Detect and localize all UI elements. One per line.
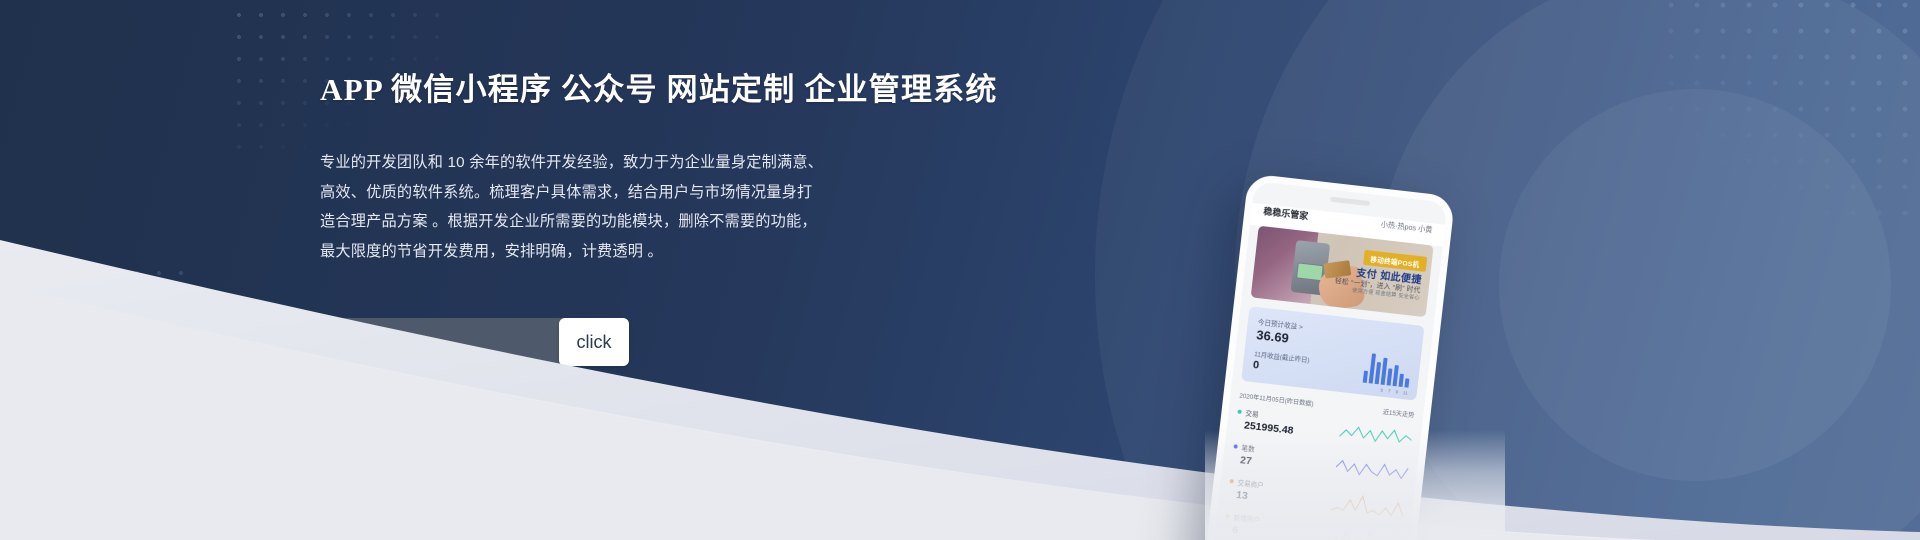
status-dot-icon	[1237, 410, 1241, 414]
stat-value: 6	[1232, 524, 1260, 539]
stat-value: 27	[1239, 454, 1253, 467]
daily-stats-list: 2020年11月05日(昨日数据) 近15天走势 交易251995.48笔数27…	[1223, 391, 1415, 540]
stat-row-left: 交易251995.48	[1235, 407, 1295, 437]
axis-tick: 5	[1380, 388, 1383, 393]
hero-paragraph: 专业的开发团队和 10 余年的软件开发经验，致力于为企业量身定制满意、 高效、优…	[320, 148, 960, 266]
sparkline-chart	[1335, 453, 1409, 487]
paragraph-line: 最大限度的节省开发费用，安排明确，计费透明 。	[320, 237, 960, 267]
click-button[interactable]: click	[559, 318, 629, 366]
bar	[1404, 378, 1409, 387]
paragraph-line: 造合理产品方案 。根据开发企业所需要的功能模块，删除不需要的功能，	[320, 207, 960, 237]
bar	[1387, 368, 1393, 385]
trend-label: 近15天走势	[1382, 407, 1414, 420]
cta-input-bar[interactable]	[320, 318, 565, 366]
bar	[1398, 374, 1403, 387]
paragraph-line: 专业的开发团队和 10 余年的软件开发经验，致力于为企业量身定制满意、	[320, 148, 960, 178]
stat-name-label: 笔数	[1241, 442, 1255, 453]
stat-name: 交易商户	[1229, 476, 1264, 490]
phone-speaker	[1330, 197, 1370, 206]
stat-rows-container: 交易251995.48笔数27交易商户13新增商户6	[1223, 407, 1413, 540]
axis-tick: 11	[1403, 390, 1408, 396]
stat-name: 笔数	[1233, 441, 1255, 453]
paragraph-line: 高效、优质的软件系统。梳理客户具体需求，结合用户与市场情况量身打	[320, 178, 960, 208]
earnings-card[interactable]: 今日预计收益 > 36.69 11月收益(截止昨日) 0 57911	[1241, 306, 1424, 400]
stat-name: 新增商户	[1225, 511, 1260, 525]
stat-row-left: 笔数27	[1232, 441, 1256, 467]
stat-value: 13	[1235, 489, 1263, 504]
sparkline-chart	[1331, 488, 1405, 522]
cta-group: click	[320, 318, 629, 366]
stat-name-label: 交易	[1245, 407, 1259, 418]
stat-name-label: 交易商户	[1237, 477, 1264, 490]
page-title: APP 微信小程序 公众号 网站定制 企业管理系统	[320, 64, 998, 109]
sparkline-chart	[1339, 418, 1413, 452]
axis-tick: 7	[1388, 388, 1391, 393]
axis-tick: 9	[1395, 389, 1398, 394]
sparkline-chart	[1327, 523, 1401, 540]
stat-row-left: 新增商户6	[1224, 511, 1261, 539]
app-user-label: 小热·热pos 小黄	[1380, 219, 1433, 235]
stat-row-left: 交易商户13	[1228, 476, 1265, 504]
stat-name-label: 新增商户	[1233, 512, 1260, 525]
data-date-label: 2020年11月05日(昨日数据)	[1239, 391, 1314, 408]
status-dot-icon	[1229, 479, 1233, 483]
status-dot-icon	[1226, 514, 1230, 518]
hero-banner: APP 微信小程序 公众号 网站定制 企业管理系统 专业的开发团队和 10 余年…	[0, 0, 1920, 540]
earnings-bar-axis: 57911	[1380, 388, 1408, 396]
earnings-bar-chart	[1363, 353, 1412, 388]
bar	[1363, 371, 1368, 383]
status-dot-icon	[1233, 444, 1237, 448]
app-title: 稳稳乐管家	[1263, 204, 1309, 222]
